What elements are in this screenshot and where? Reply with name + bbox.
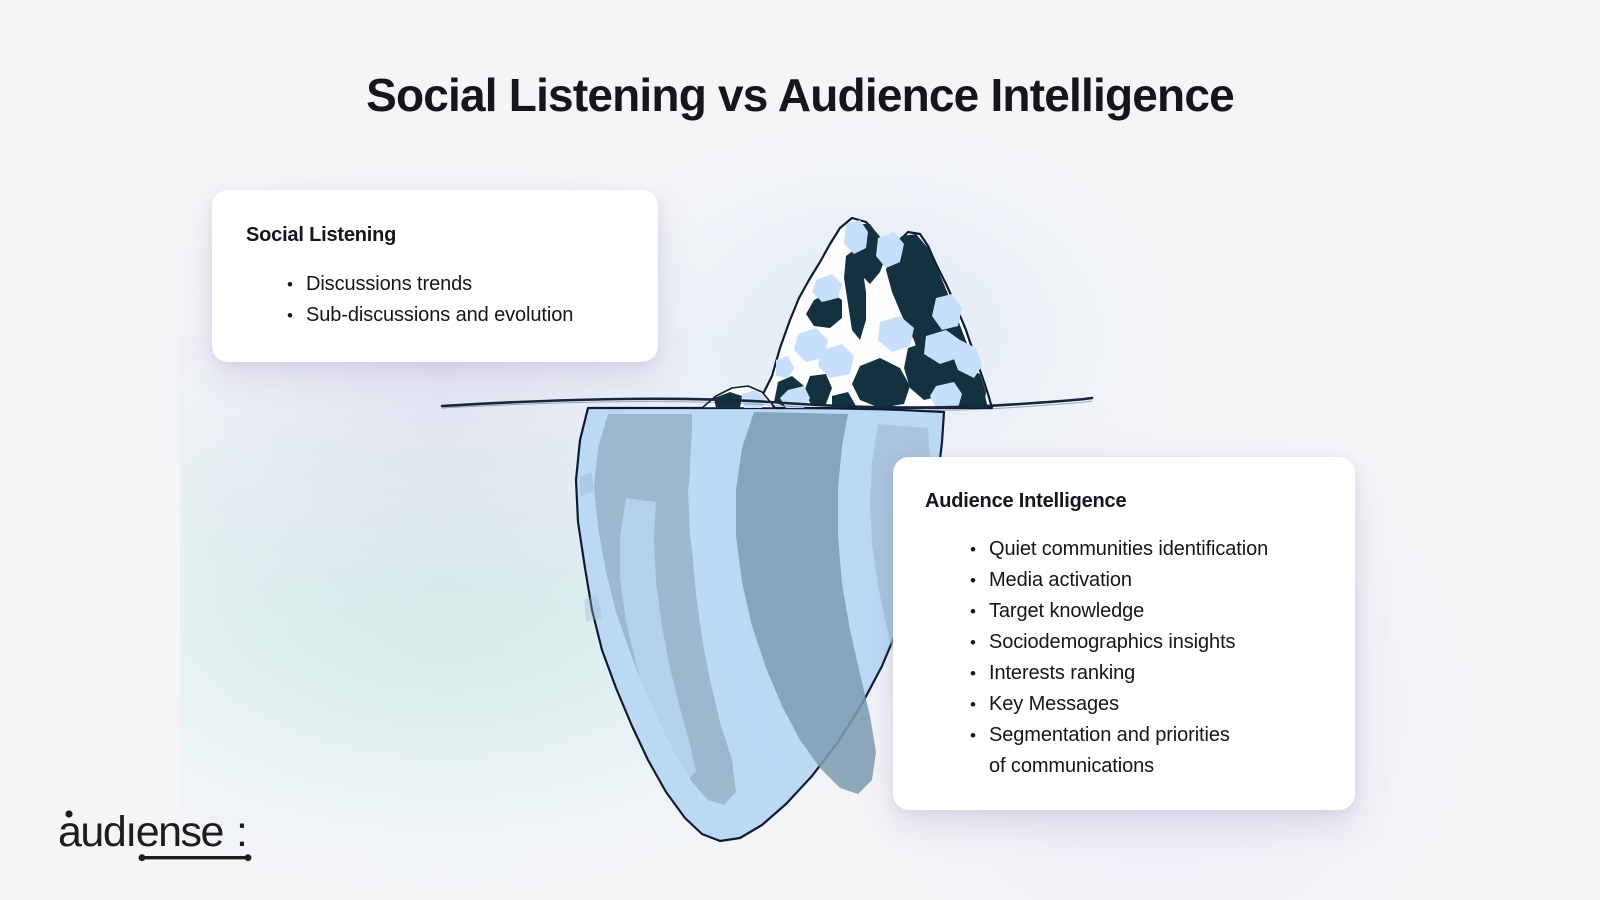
list-item: Quiet communities identification [970,534,1325,565]
brand-logo-underline-dot-left [139,854,146,861]
list-item: Key Messages [970,689,1325,720]
page-title: Social Listening vs Audience Intelligenc… [0,68,1600,122]
iceberg-underwater [576,408,944,841]
list-item: Interests ranking [970,658,1325,689]
brand-logo-underline-dot-right [245,854,252,861]
list-item: Segmentation and priorities of communica… [970,720,1325,782]
brand-logo-underline [142,856,248,859]
card-audience-intelligence-list: Quiet communities identification Media a… [925,534,1325,782]
card-social-listening-list: Discussions trends Sub-discussions and e… [246,269,628,331]
card-social-listening-heading: Social Listening [246,224,628,247]
list-item: Target knowledge [970,596,1325,627]
card-audience-intelligence-heading: Audience Intelligence [925,490,1325,513]
list-item: Sub-discussions and evolution [287,300,628,331]
iceberg-tip [702,218,992,408]
list-item: Sociodemographics insights [970,627,1325,658]
list-item: Media activation [970,565,1325,596]
brand-logo-audiense: audıense : [58,806,318,868]
card-social-listening: Social Listening Discussions trends Sub-… [212,190,658,362]
brand-logo-text: audıense [58,808,223,856]
card-audience-intelligence: Audience Intelligence Quiet communities … [893,457,1355,810]
brand-logo-dot-over-a [65,810,72,817]
brand-logo-colon: : [236,808,248,856]
list-item: Discussions trends [287,269,628,300]
